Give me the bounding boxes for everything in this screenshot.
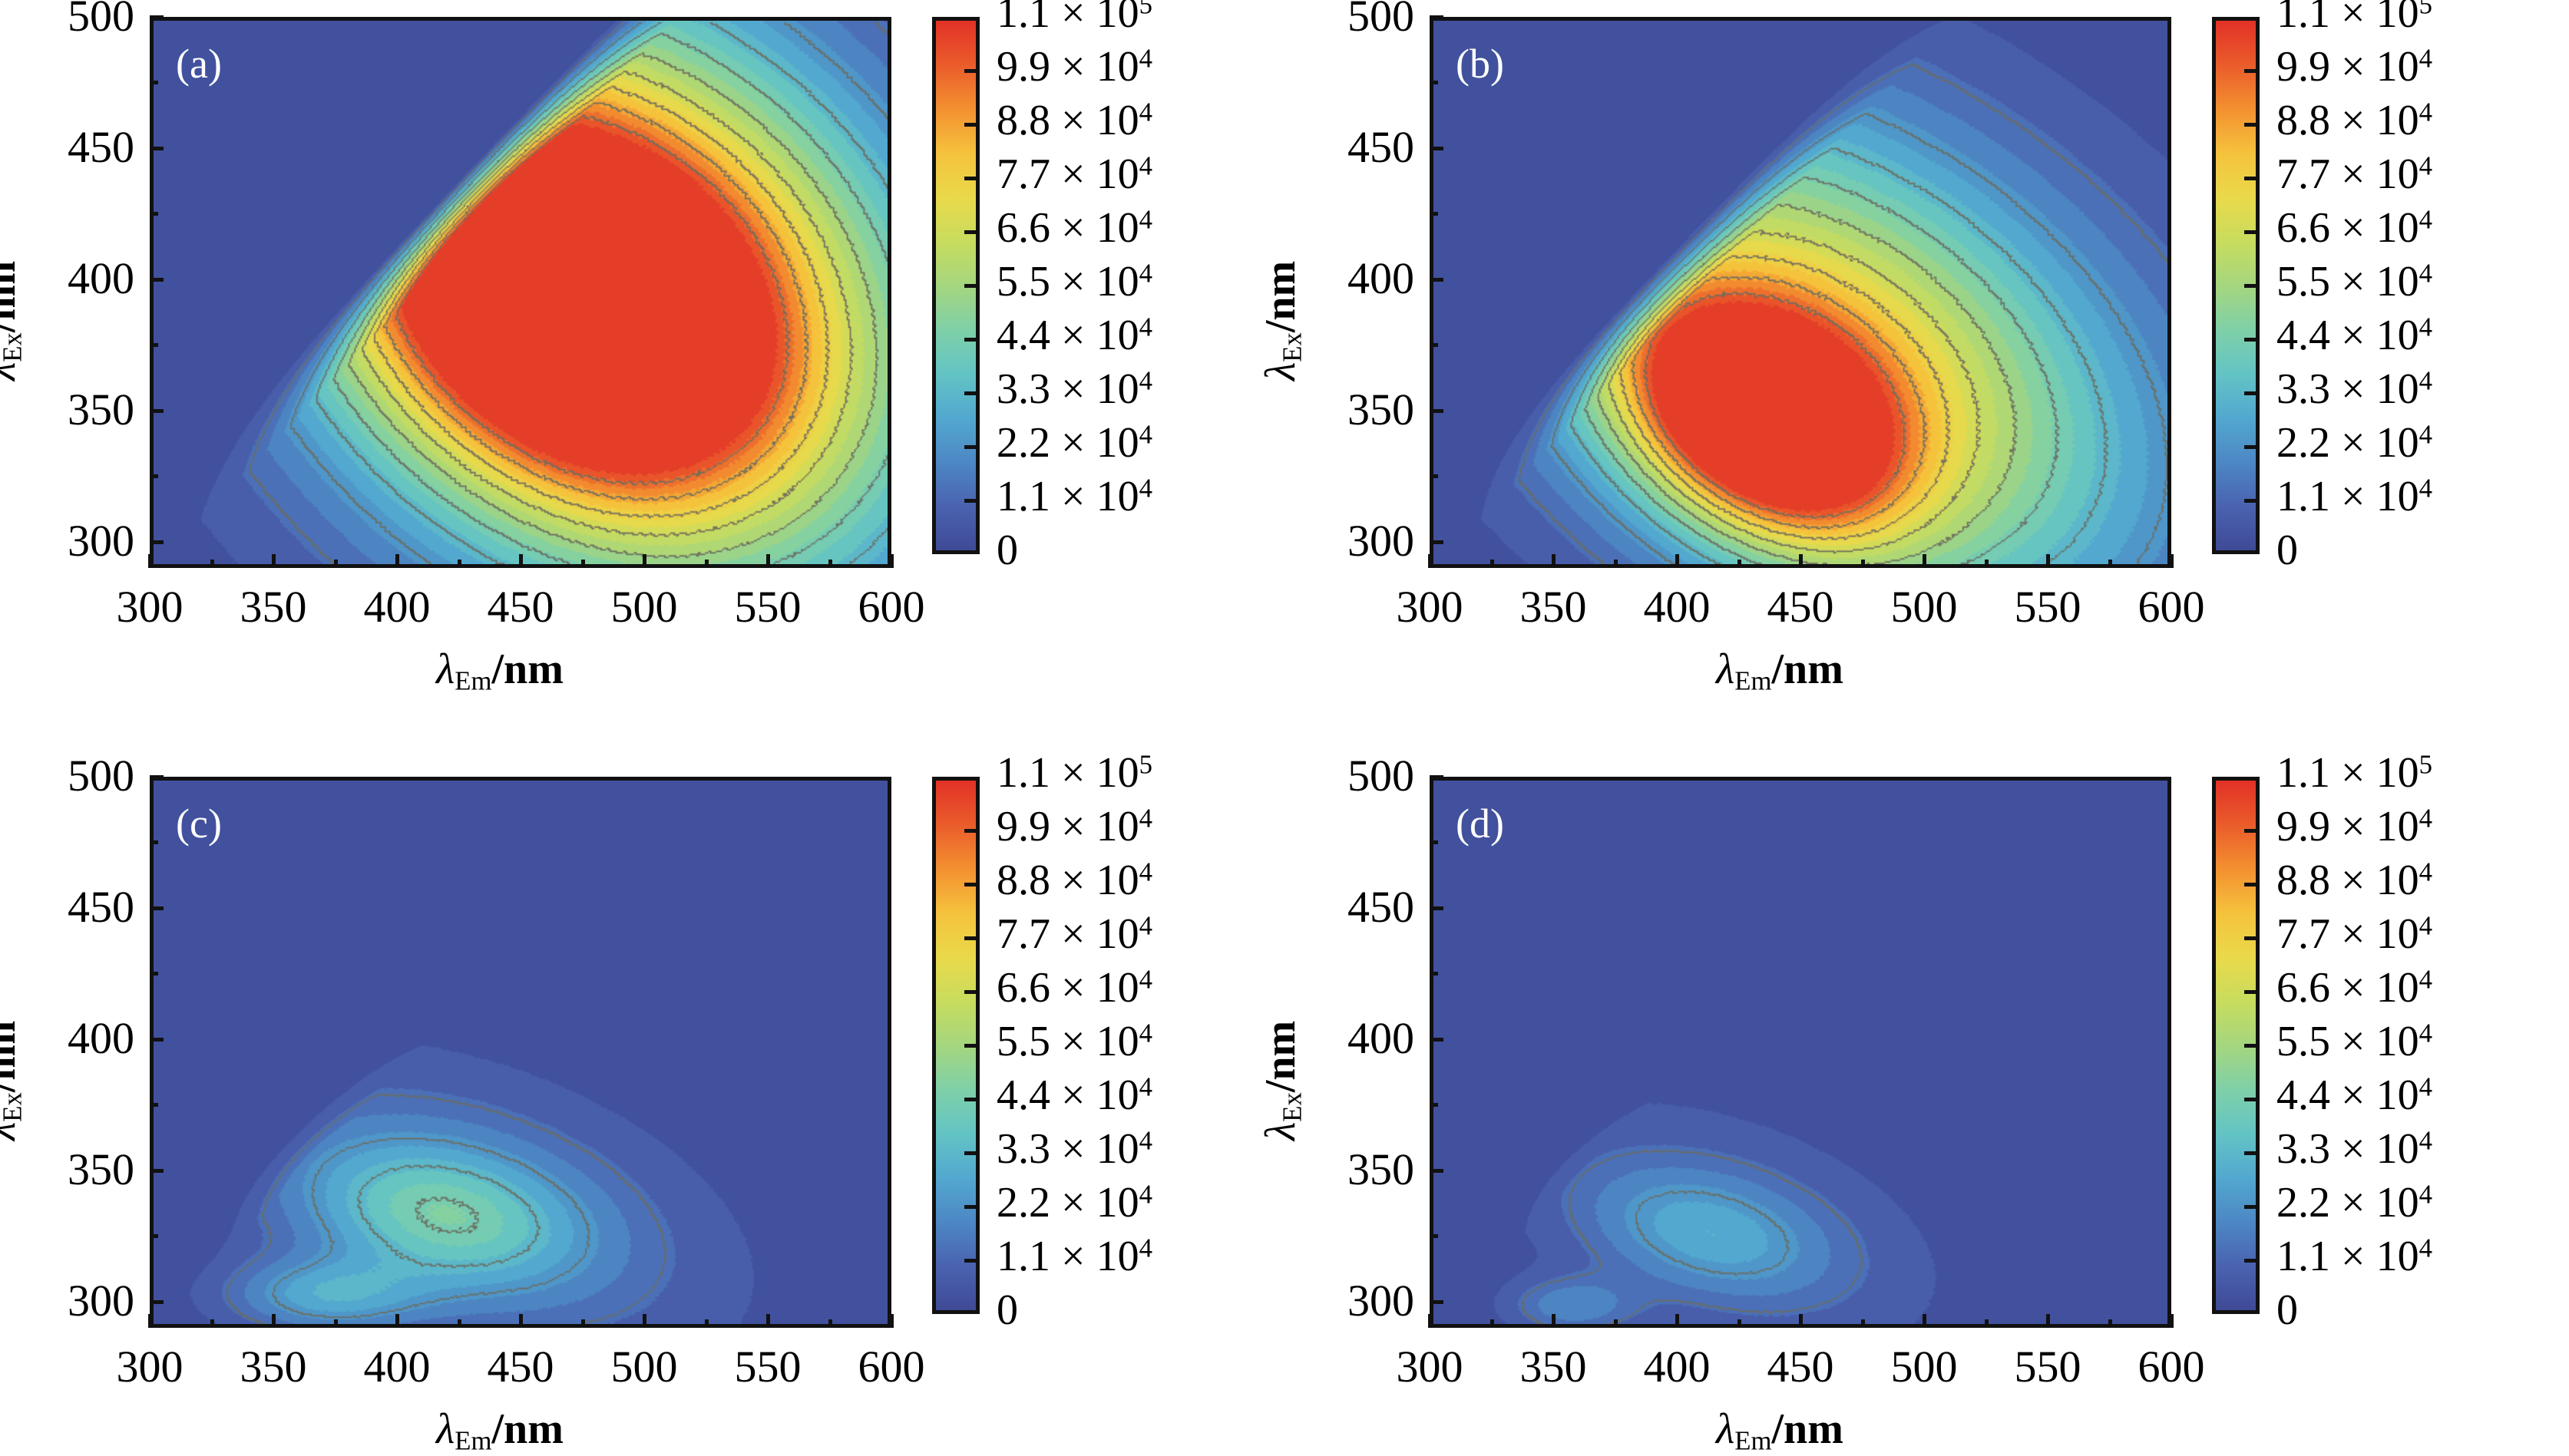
y-tick-major bbox=[1430, 15, 1443, 19]
colorbar-label: 1.1 × 105 bbox=[2276, 0, 2432, 35]
x-axis-title: λEm/nm bbox=[1716, 1408, 1843, 1454]
colorbar-tick bbox=[2244, 1205, 2260, 1209]
colorbar-tick bbox=[2244, 990, 2260, 994]
colorbar-label: 6.6 × 104 bbox=[2276, 206, 2432, 249]
x-tick-minor bbox=[458, 560, 461, 568]
colorbar-label: 2.2 × 104 bbox=[997, 421, 1152, 464]
x-tick-major bbox=[766, 1314, 770, 1328]
x-axis-title: λEm/nm bbox=[436, 1408, 564, 1454]
colorbar-tick bbox=[2244, 284, 2260, 288]
y-tick-major bbox=[150, 1038, 164, 1042]
colorbar-tick bbox=[2244, 1098, 2260, 1101]
plot-area-d bbox=[1430, 777, 2171, 1328]
y-tick-label: 350 bbox=[8, 388, 134, 432]
colorbar-label: 5.5 × 104 bbox=[997, 260, 1152, 303]
y-tick-major bbox=[1430, 1038, 1443, 1042]
x-tick-minor bbox=[1490, 560, 1494, 568]
plot-area-a bbox=[150, 17, 891, 568]
y-tick-minor bbox=[150, 1103, 158, 1107]
colorbar-tick bbox=[964, 177, 980, 180]
y-tick-label: 300 bbox=[8, 519, 134, 563]
contour-canvas bbox=[1433, 781, 2167, 1324]
y-tick-label: 400 bbox=[1288, 256, 1414, 301]
colorbar-label: 0 bbox=[997, 529, 1018, 572]
x-tick-major bbox=[272, 1314, 276, 1328]
colorbar-label: 3.3 × 104 bbox=[997, 368, 1152, 411]
y-tick-major bbox=[1430, 906, 1443, 910]
x-tick-major bbox=[1428, 554, 1432, 568]
colorbar-tick bbox=[2244, 230, 2260, 234]
colorbar-label: 1.1 × 104 bbox=[997, 1235, 1152, 1278]
colorbar-label: 0 bbox=[997, 1289, 1018, 1332]
colorbar-tick bbox=[2244, 936, 2260, 940]
colorbar-label: 1.1 × 105 bbox=[997, 751, 1152, 794]
x-tick-minor bbox=[1614, 560, 1618, 568]
colorbar-label: 2.2 × 104 bbox=[997, 1181, 1152, 1224]
x-tick-major bbox=[643, 1314, 646, 1328]
colorbar-label: 4.4 × 104 bbox=[997, 1074, 1152, 1117]
colorbar-label: 5.5 × 104 bbox=[2276, 1020, 2432, 1063]
x-tick-label: 600 bbox=[2095, 585, 2248, 629]
x-tick-minor bbox=[1985, 560, 1989, 568]
colorbar-label: 5.5 × 104 bbox=[997, 1020, 1152, 1063]
x-tick-label: 600 bbox=[2095, 1345, 2248, 1389]
colorbar-tick bbox=[964, 69, 980, 73]
y-tick-minor bbox=[150, 343, 158, 347]
y-tick-major bbox=[150, 147, 164, 150]
x-tick-minor bbox=[210, 560, 214, 568]
x-tick-minor bbox=[828, 560, 832, 568]
colorbar-label: 8.8 × 104 bbox=[2276, 99, 2432, 142]
x-tick-minor bbox=[1861, 1319, 1865, 1328]
y-tick-label: 450 bbox=[8, 885, 134, 929]
x-tick-minor bbox=[458, 1319, 461, 1328]
x-tick-major bbox=[519, 554, 523, 568]
y-tick-label: 500 bbox=[1288, 0, 1414, 38]
y-tick-major bbox=[150, 540, 164, 544]
y-tick-label: 350 bbox=[1288, 388, 1414, 432]
colorbar-tick bbox=[964, 1098, 980, 1101]
x-tick-minor bbox=[705, 560, 709, 568]
x-tick-major bbox=[148, 554, 152, 568]
colorbar-tick bbox=[964, 123, 980, 127]
x-tick-major bbox=[766, 554, 770, 568]
y-tick-minor bbox=[150, 972, 158, 976]
colorbar-label: 4.4 × 104 bbox=[2276, 314, 2432, 357]
colorbar-tick bbox=[964, 445, 980, 449]
y-tick-label: 450 bbox=[1288, 125, 1414, 170]
colorbar-tick bbox=[964, 1151, 980, 1155]
y-tick-label: 500 bbox=[8, 0, 134, 38]
colorbar-tick bbox=[964, 990, 980, 994]
colorbar-label: 8.8 × 104 bbox=[2276, 859, 2432, 902]
colorbar-tick bbox=[2244, 69, 2260, 73]
y-tick-major bbox=[150, 15, 164, 19]
y-tick-major bbox=[150, 1169, 164, 1173]
y-tick-major bbox=[1430, 147, 1443, 150]
colorbar-label: 5.5 × 104 bbox=[2276, 260, 2432, 303]
x-tick-minor bbox=[581, 560, 585, 568]
y-tick-minor bbox=[1430, 212, 1438, 216]
y-tick-minor bbox=[150, 212, 158, 216]
x-tick-major bbox=[1799, 554, 1803, 568]
colorbar-label: 9.9 × 104 bbox=[997, 805, 1152, 848]
y-tick-major bbox=[1430, 278, 1443, 282]
y-tick-minor bbox=[1430, 81, 1438, 84]
colorbar-label: 8.8 × 104 bbox=[997, 859, 1152, 902]
y-tick-minor bbox=[150, 474, 158, 478]
x-tick-major bbox=[1799, 1314, 1803, 1328]
colorbar-tick bbox=[2244, 883, 2260, 886]
colorbar-label: 6.6 × 104 bbox=[997, 206, 1152, 249]
panel-tag: (b) bbox=[1456, 43, 1504, 84]
colorbar-label: 9.9 × 104 bbox=[2276, 805, 2432, 848]
colorbar-tick bbox=[2244, 1151, 2260, 1155]
colorbar-tick bbox=[2244, 499, 2260, 503]
colorbar-label: 3.3 × 104 bbox=[2276, 1127, 2432, 1170]
x-axis-title: λEm/nm bbox=[436, 648, 564, 695]
x-tick-major bbox=[1675, 554, 1679, 568]
x-tick-major bbox=[2046, 554, 2050, 568]
x-tick-minor bbox=[2108, 1319, 2112, 1328]
colorbar-label: 1.1 × 105 bbox=[2276, 751, 2432, 794]
x-tick-major bbox=[1428, 1314, 1432, 1328]
x-tick-major bbox=[1923, 554, 1926, 568]
x-tick-major bbox=[890, 554, 894, 568]
colorbar-label: 7.7 × 104 bbox=[997, 913, 1152, 956]
colorbar-label: 7.7 × 104 bbox=[2276, 153, 2432, 196]
y-tick-major bbox=[1430, 540, 1443, 544]
x-tick-minor bbox=[2108, 560, 2112, 568]
x-tick-minor bbox=[1490, 1319, 1494, 1328]
colorbar-tick bbox=[964, 1259, 980, 1263]
x-tick-major bbox=[519, 1314, 523, 1328]
panel-tag: (c) bbox=[176, 803, 222, 844]
colorbar-label: 4.4 × 104 bbox=[2276, 1074, 2432, 1117]
y-tick-label: 350 bbox=[8, 1147, 134, 1192]
y-tick-major bbox=[1430, 1300, 1443, 1304]
colorbar-label: 1.1 × 104 bbox=[2276, 475, 2432, 518]
y-tick-major bbox=[150, 409, 164, 413]
colorbar-tick bbox=[964, 230, 980, 234]
colorbar-label: 1.1 × 105 bbox=[997, 0, 1152, 35]
colorbar-label: 1.1 × 104 bbox=[997, 475, 1152, 518]
colorbar-label: 9.9 × 104 bbox=[2276, 45, 2432, 88]
y-tick-major bbox=[1430, 409, 1443, 413]
y-tick-label: 300 bbox=[1288, 519, 1414, 563]
x-tick-major bbox=[1675, 1314, 1679, 1328]
y-axis-title: λEx/nm bbox=[1259, 1021, 1306, 1141]
x-axis-title: λEm/nm bbox=[1716, 648, 1843, 695]
x-tick-major bbox=[2170, 1314, 2174, 1328]
colorbar-label: 3.3 × 104 bbox=[997, 1127, 1152, 1170]
y-tick-label: 300 bbox=[1288, 1279, 1414, 1323]
colorbar-tick bbox=[2244, 123, 2260, 127]
colorbar-label: 6.6 × 104 bbox=[997, 966, 1152, 1009]
colorbar-tick bbox=[964, 936, 980, 940]
colorbar-tick bbox=[964, 338, 980, 342]
y-tick-label: 350 bbox=[1288, 1147, 1414, 1192]
y-tick-major bbox=[1430, 1169, 1443, 1173]
y-tick-minor bbox=[1430, 1103, 1438, 1107]
colorbar-tick bbox=[2244, 445, 2260, 449]
figure-root: (a)300350400450500300350400450500550600λ… bbox=[0, 0, 2569, 1454]
contour-canvas bbox=[1433, 21, 2167, 564]
colorbar-tick bbox=[2244, 338, 2260, 342]
y-tick-label: 400 bbox=[1288, 1016, 1414, 1061]
colorbar-tick bbox=[964, 284, 980, 288]
y-tick-minor bbox=[1430, 1234, 1438, 1238]
y-tick-minor bbox=[1430, 343, 1438, 347]
colorbar-label: 2.2 × 104 bbox=[2276, 421, 2432, 464]
y-axis-title: λEx/nm bbox=[0, 261, 26, 381]
y-tick-minor bbox=[150, 840, 158, 844]
x-tick-minor bbox=[1614, 1319, 1618, 1328]
panel-tag: (a) bbox=[176, 43, 222, 84]
y-tick-label: 500 bbox=[8, 754, 134, 798]
colorbar-label: 4.4 × 104 bbox=[997, 314, 1152, 357]
x-tick-minor bbox=[210, 1319, 214, 1328]
y-tick-label: 400 bbox=[8, 256, 134, 301]
x-tick-minor bbox=[828, 1319, 832, 1328]
y-tick-minor bbox=[150, 1234, 158, 1238]
colorbar-label: 2.2 × 104 bbox=[2276, 1181, 2432, 1224]
colorbar-tick bbox=[2244, 1259, 2260, 1263]
colorbar-label: 0 bbox=[2276, 1289, 2298, 1332]
colorbar-label: 9.9 × 104 bbox=[997, 45, 1152, 88]
y-tick-minor bbox=[1430, 474, 1438, 478]
x-tick-minor bbox=[334, 1319, 338, 1328]
y-tick-label: 450 bbox=[1288, 885, 1414, 929]
y-axis-title: λEx/nm bbox=[0, 1021, 26, 1141]
x-tick-major bbox=[2046, 1314, 2050, 1328]
x-tick-major bbox=[1552, 1314, 1556, 1328]
x-tick-major bbox=[890, 1314, 894, 1328]
colorbar-tick bbox=[964, 883, 980, 886]
y-tick-major bbox=[150, 278, 164, 282]
x-tick-major bbox=[2170, 554, 2174, 568]
x-tick-minor bbox=[581, 1319, 585, 1328]
colorbar-tick bbox=[964, 499, 980, 503]
y-tick-major bbox=[1430, 775, 1443, 779]
colorbar-tick bbox=[964, 1044, 980, 1048]
colorbar-tick bbox=[2244, 1044, 2260, 1048]
x-tick-label: 600 bbox=[815, 585, 968, 629]
panel-tag: (d) bbox=[1456, 803, 1504, 844]
plot-area-c bbox=[150, 777, 891, 1328]
x-tick-major bbox=[643, 554, 646, 568]
y-tick-label: 300 bbox=[8, 1279, 134, 1323]
x-tick-major bbox=[395, 1314, 399, 1328]
x-tick-minor bbox=[1737, 560, 1741, 568]
colorbar-label: 1.1 × 104 bbox=[2276, 1235, 2432, 1278]
colorbar-tick bbox=[964, 829, 980, 833]
x-tick-major bbox=[1552, 554, 1556, 568]
y-axis-title: λEx/nm bbox=[1259, 261, 1306, 381]
colorbar-label: 7.7 × 104 bbox=[997, 153, 1152, 196]
y-tick-label: 500 bbox=[1288, 754, 1414, 798]
y-tick-major bbox=[150, 1300, 164, 1304]
y-tick-major bbox=[150, 906, 164, 910]
y-tick-minor bbox=[1430, 972, 1438, 976]
x-tick-minor bbox=[1737, 1319, 1741, 1328]
colorbar-label: 7.7 × 104 bbox=[2276, 913, 2432, 956]
x-tick-major bbox=[272, 554, 276, 568]
colorbar-tick bbox=[964, 391, 980, 395]
colorbar-tick bbox=[2244, 391, 2260, 395]
x-tick-minor bbox=[1861, 560, 1865, 568]
colorbar-label: 3.3 × 104 bbox=[2276, 368, 2432, 411]
plot-area-b bbox=[1430, 17, 2171, 568]
colorbar-label: 0 bbox=[2276, 529, 2298, 572]
x-tick-minor bbox=[1985, 1319, 1989, 1328]
x-tick-minor bbox=[705, 1319, 709, 1328]
y-tick-label: 450 bbox=[8, 125, 134, 170]
x-tick-major bbox=[148, 1314, 152, 1328]
colorbar-tick bbox=[2244, 177, 2260, 180]
y-tick-minor bbox=[150, 81, 158, 84]
contour-canvas bbox=[154, 21, 888, 564]
x-tick-minor bbox=[334, 560, 338, 568]
contour-canvas bbox=[154, 781, 888, 1324]
x-tick-major bbox=[395, 554, 399, 568]
colorbar-label: 8.8 × 104 bbox=[997, 99, 1152, 142]
y-tick-label: 400 bbox=[8, 1016, 134, 1061]
x-tick-major bbox=[1923, 1314, 1926, 1328]
colorbar-label: 6.6 × 104 bbox=[2276, 966, 2432, 1009]
colorbar-tick bbox=[2244, 829, 2260, 833]
x-tick-label: 600 bbox=[815, 1345, 968, 1389]
y-tick-minor bbox=[1430, 840, 1438, 844]
colorbar-tick bbox=[964, 1205, 980, 1209]
y-tick-major bbox=[150, 775, 164, 779]
